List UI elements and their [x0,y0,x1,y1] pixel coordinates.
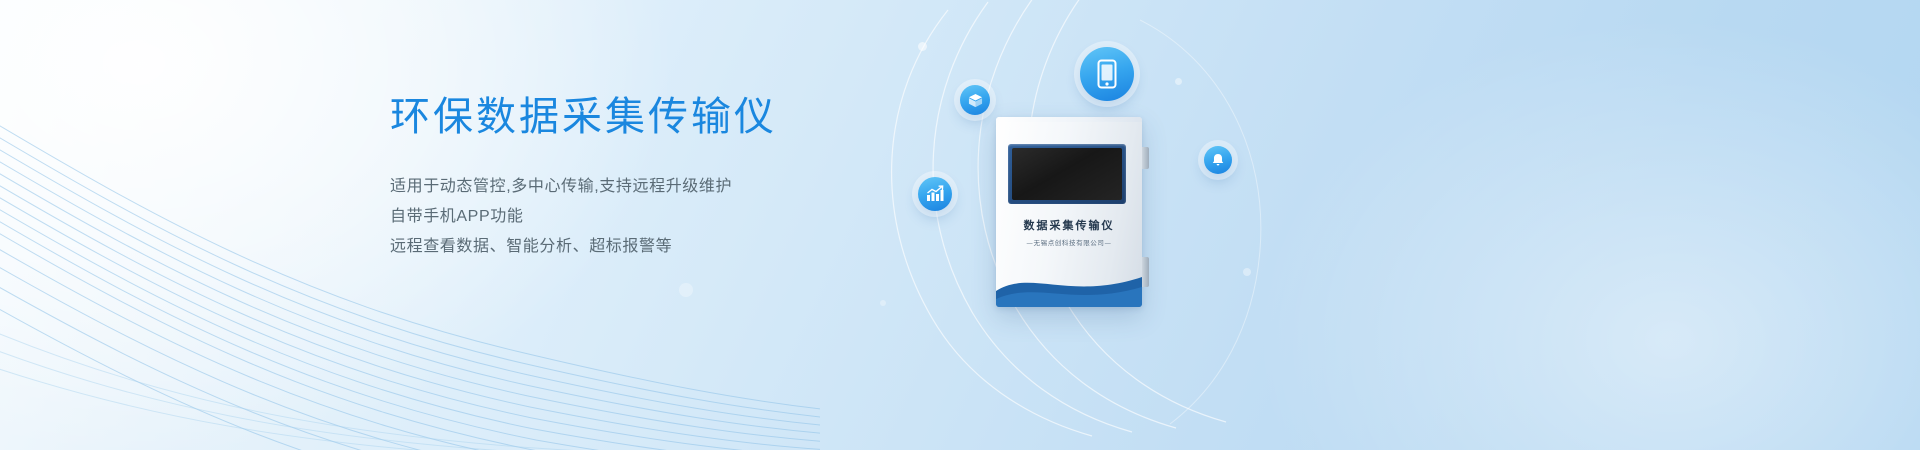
decorative-dot [880,300,886,306]
device-label: 数据采集传输仪 [996,217,1142,233]
decorative-dot [918,42,927,51]
decorative-dot [679,283,693,297]
device-bottom-wave [996,261,1142,307]
device-side-port-top [1142,147,1149,169]
product-device-image: 数据采集传输仪 —无锡点创科技有限公司— [996,117,1142,307]
hero-banner: 环保数据采集传输仪 适用于动态管控,多中心传输,支持远程升级维护 自带手机APP… [0,0,1920,450]
description-line-2: 自带手机APP功能 [390,202,910,232]
page-title: 环保数据采集传输仪 [390,92,910,142]
device-lcd-screen [1012,148,1122,200]
bar-chart-icon[interactable] [918,177,952,211]
description-line-3: 远程查看数据、智能分析、超标报警等 [390,232,910,262]
device-sublabel: —无锡点创科技有限公司— [996,237,1142,247]
bottom-right-glow [1220,0,1920,450]
decorative-dot [1243,268,1251,276]
banner-copy: 环保数据采集传输仪 适用于动态管控,多中心传输,支持远程升级维护 自带手机APP… [390,92,910,262]
description-line-1: 适用于动态管控,多中心传输,支持远程升级维护 [390,172,910,202]
alarm-bell-icon[interactable] [1204,146,1232,174]
decorative-dot [1175,78,1182,85]
description-list: 适用于动态管控,多中心传输,支持远程升级维护 自带手机APP功能 远程查看数据、… [390,172,910,262]
device-screen-bezel [1008,144,1126,204]
device-top-edge [996,117,1142,122]
smartphone-icon[interactable] [1080,47,1134,101]
package-box-icon[interactable] [960,85,990,115]
device-side-port-bottom [1142,257,1149,287]
